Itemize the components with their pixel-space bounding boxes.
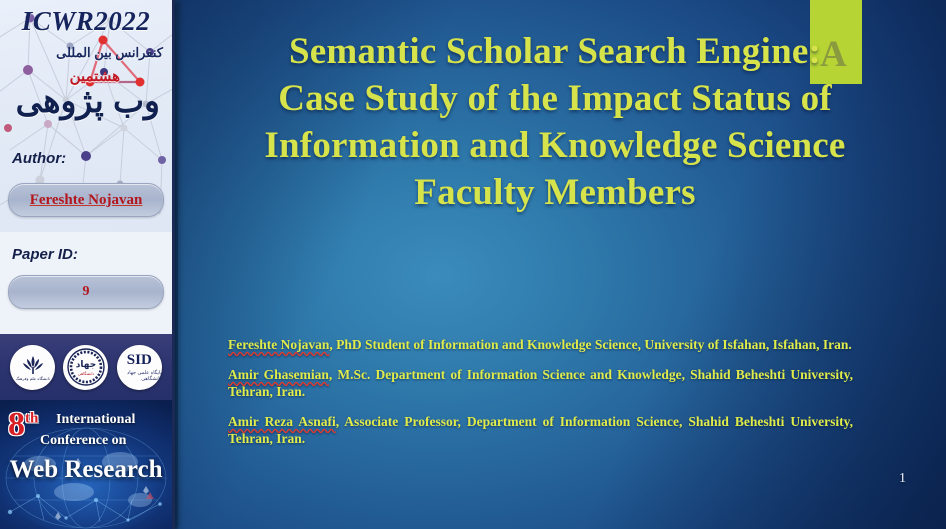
author-name: Amir Ghasemian: [228, 367, 329, 382]
conference-line3: Web Research: [4, 456, 168, 484]
author-name: Amir Reza Asnafi: [228, 414, 336, 429]
svg-text:جهاد: جهاد: [76, 360, 96, 370]
page-number: 1: [899, 471, 906, 487]
university-jahad-logo-icon: دانشگاه علم وفرهنگ: [10, 345, 55, 390]
conference-line1: International: [56, 412, 135, 428]
page-title: Semantic Scholar Search Engine: Case Stu…: [196, 28, 914, 216]
svg-text:دانشگاهی: دانشگاهی: [78, 371, 95, 376]
conference-banner: 8th International Conference on Web Rese…: [0, 400, 172, 529]
title-highlighted-letter: A: [820, 31, 847, 78]
conference-ordinal: 8th: [8, 408, 38, 442]
emblem-icon: دانشگاه علم وفرهنگ: [16, 350, 50, 384]
sponsor-logos: دانشگاه علم وفرهنگ جهاد دانشگاهی SID پای…: [0, 334, 172, 400]
author-line: Amir Reza Asnafi, Associate Professor, D…: [228, 413, 853, 447]
emblem-icon: جهاد دانشگاهی: [66, 347, 106, 387]
jahad-daneshgahi-logo-icon: جهاد دانشگاهی: [63, 345, 108, 390]
conference-ordinal-suffix: th: [25, 411, 38, 427]
paper-id-value: 9: [83, 284, 90, 300]
paper-id-label: Paper ID:: [12, 246, 78, 263]
sid-logo-icon: SID پایگاه علمی جهاد دانشگاهی: [117, 345, 162, 390]
persian-subtitle-line1: کنفرانس بین المللی: [56, 45, 163, 61]
conference-line2: Conference on: [40, 433, 126, 449]
persian-title: وب پژوهی: [16, 84, 160, 119]
sidebar: ICWR2022 کنفرانس بین المللی هشتمین وب پژ…: [0, 0, 175, 529]
icwr-logo: ICWR2022: [0, 6, 172, 37]
author-name: Fereshte Nojavan: [228, 337, 329, 352]
author-name-badge: Fereshte Nojavan: [8, 183, 164, 217]
paper-id-badge: 9: [8, 275, 164, 309]
author-affiliations: Fereshte Nojavan, PhD Student of Informa…: [228, 336, 853, 447]
author-name-value: Fereshte Nojavan: [30, 192, 143, 209]
author-affiliation: , PhD Student of Information and Knowled…: [329, 337, 851, 352]
author-label: Author:: [12, 150, 66, 167]
sid-logo-text: SID: [127, 353, 152, 368]
author-line: Fereshte Nojavan, PhD Student of Informa…: [228, 336, 853, 353]
presentation-slide: Semantic Scholar Search Engine: Case Stu…: [0, 0, 946, 529]
svg-text:دانشگاه علم وفرهنگ: دانشگاه علم وفرهنگ: [16, 376, 50, 381]
sid-logo-subtext: پایگاه علمی جهاد دانشگاهی: [117, 370, 162, 382]
author-line: Amir Ghasemian, M.Sc. Department of Info…: [228, 366, 853, 400]
